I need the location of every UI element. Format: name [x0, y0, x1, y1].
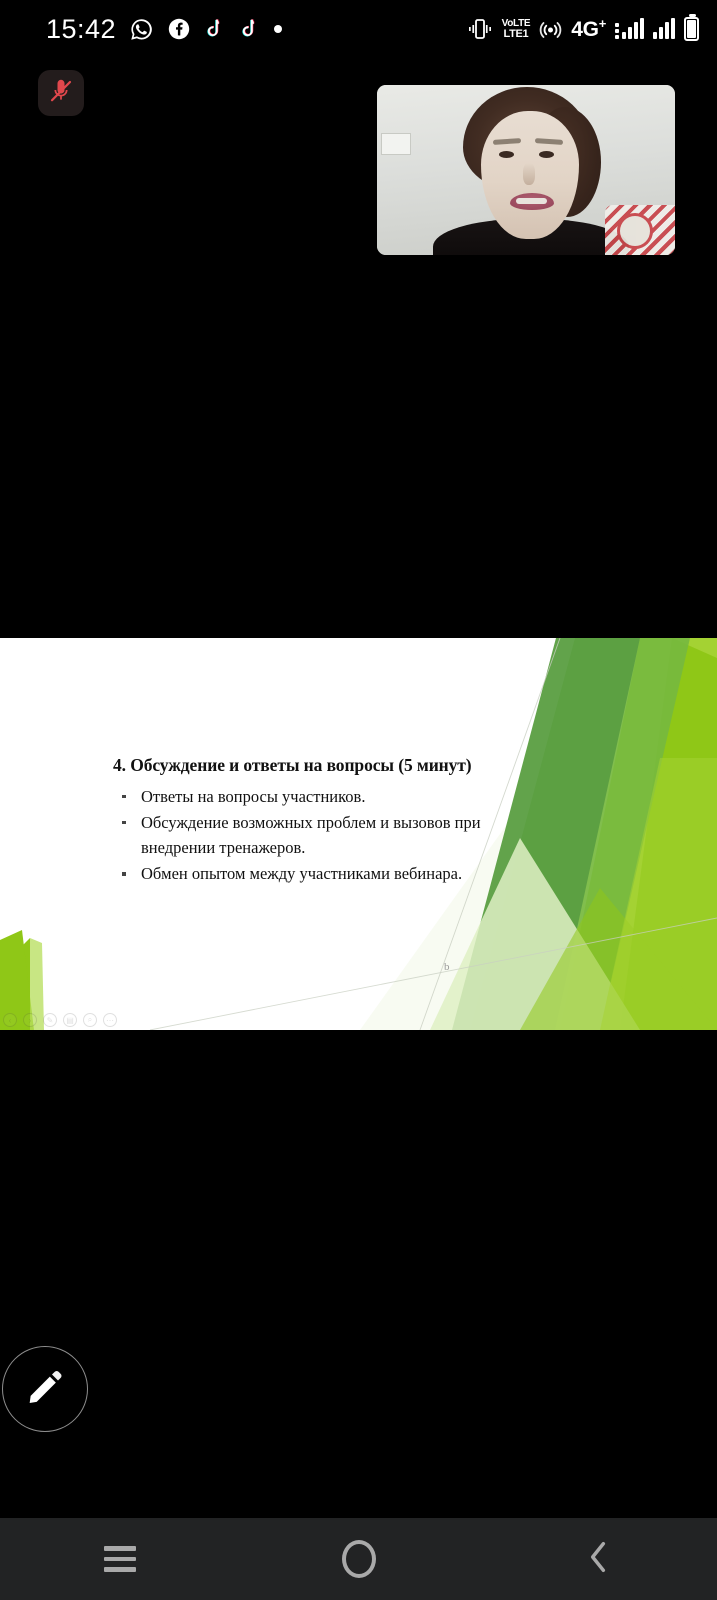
slide-content: 4. Обсуждение и ответы на вопросы (5 мин… [113, 755, 533, 887]
background-cushion [605, 205, 675, 255]
status-bar-right: VoLTE LTE1 4G+ [467, 16, 699, 42]
notification-dot-icon [274, 25, 282, 33]
vibrate-icon [467, 18, 493, 40]
network-type-label: 4G+ [571, 16, 606, 42]
android-navigation-bar [0, 1518, 717, 1600]
back-icon [581, 1537, 615, 1582]
slide-bullet-item: Обсуждение возможных проблем и вызовов п… [113, 810, 533, 860]
status-bar: 15:42 [0, 0, 717, 58]
tiktok-icon [204, 17, 226, 41]
signal-bars-sim2-icon [653, 19, 675, 39]
tiktok-icon [239, 17, 261, 41]
slide-bullet-list: Ответы на вопросы участников. Обсуждение… [113, 784, 533, 886]
microphone-muted-icon [47, 77, 75, 110]
more-icon[interactable]: ⋯ [103, 1013, 117, 1027]
pen-icon[interactable]: ✎ [43, 1013, 57, 1027]
pencil-icon [25, 1367, 65, 1412]
battery-icon [684, 17, 699, 41]
self-view-video-thumbnail[interactable] [377, 85, 675, 255]
mute-status-badge[interactable] [38, 70, 84, 116]
wall-picture [381, 133, 411, 155]
whatsapp-icon [129, 17, 154, 42]
zoom-icon[interactable]: ⌕ [83, 1013, 97, 1027]
slide-cursor-mark: b [444, 961, 450, 973]
home-icon [342, 1540, 376, 1578]
status-bar-left: 15:42 [46, 14, 282, 45]
participant-eye-left [499, 151, 514, 158]
signal-bars-sim1-icon [615, 19, 644, 39]
menu-icon[interactable]: ▤ [63, 1013, 77, 1027]
participant-teeth [516, 198, 547, 204]
volte-icon: VoLTE LTE1 [502, 19, 531, 40]
prev-slide-icon[interactable]: ‹ [3, 1013, 17, 1027]
next-slide-icon[interactable]: › [23, 1013, 37, 1027]
participant-nose [523, 163, 535, 185]
slide-bullet-item: Обмен опытом между участниками вебинара. [113, 861, 533, 886]
video-frame [377, 85, 675, 255]
annotate-fab-button[interactable] [2, 1346, 88, 1432]
presentation-slide[interactable]: 4. Обсуждение и ответы на вопросы (5 мин… [0, 638, 717, 1030]
video-call-stage: 4. Обсуждение и ответы на вопросы (5 мин… [0, 58, 717, 1490]
recents-icon [104, 1546, 136, 1572]
back-button[interactable] [478, 1518, 717, 1600]
status-bar-clock: 15:42 [46, 14, 116, 45]
participant-eye-right [539, 151, 554, 158]
slide-title: 4. Обсуждение и ответы на вопросы (5 мин… [113, 755, 533, 777]
presenter-toolbar[interactable]: ‹ › ✎ ▤ ⌕ ⋯ [3, 1013, 117, 1027]
home-button[interactable] [239, 1518, 478, 1600]
hotspot-icon [539, 18, 562, 41]
recents-button[interactable] [0, 1518, 239, 1600]
slide-bullet-item: Ответы на вопросы участников. [113, 784, 533, 809]
facebook-icon [167, 17, 191, 41]
